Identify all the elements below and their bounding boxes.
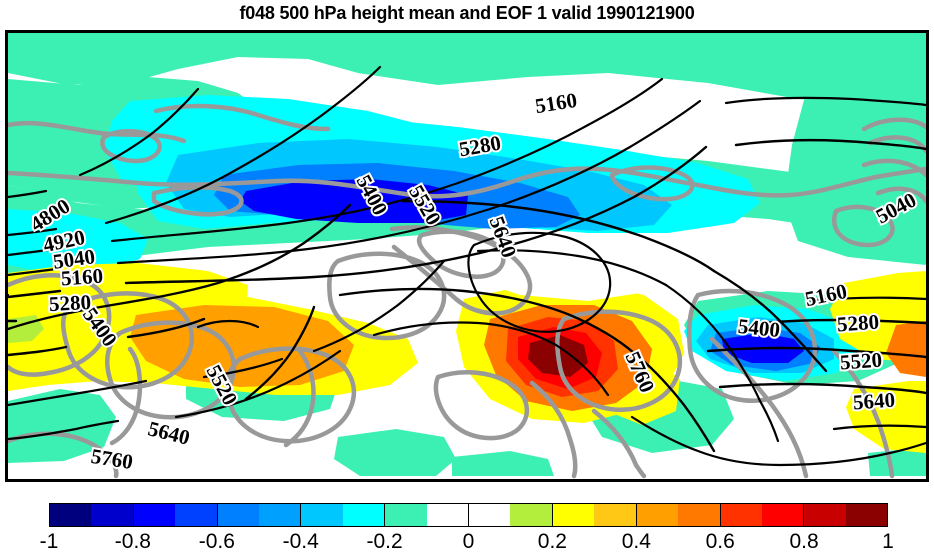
colorbar-tick-0: 0: [463, 528, 475, 556]
colorbar-strip: [49, 503, 888, 527]
contour-label-5640-right: 5640: [852, 388, 896, 415]
colorbar-bin-16: [721, 504, 762, 526]
colorbar-bin-9: [427, 504, 469, 526]
contour-label-5400-right: 5400: [737, 314, 781, 342]
colorbar-bin-4: [218, 504, 259, 526]
colorbar-tick-0.4: 0.4: [622, 528, 651, 556]
colorbar-bin-1: [91, 504, 133, 526]
colorbar-bin-8: [385, 504, 426, 526]
colorbar-tick-1: 1: [882, 528, 894, 556]
colorbar-bin-10: [469, 504, 510, 526]
map-plot-area: 4800 4920 5040 5160 5280 5400 5520 5640 …: [8, 33, 926, 479]
colorbar-bin-14: [637, 504, 678, 526]
map-panel: 4800 4920 5040 5160 5280 5400 5520 5640 …: [5, 30, 929, 482]
colorbar-bin-15: [678, 504, 720, 526]
colorbar-bin-6: [301, 504, 342, 526]
colorbar: -1-0.8-0.6-0.4-0.200.20.40.60.81: [49, 503, 888, 527]
contour-label-5280-right: 5280: [836, 310, 880, 337]
colorbar-bin-7: [343, 504, 385, 526]
contour-label-5520-right: 5520: [839, 348, 883, 375]
colorbar-bin-13: [594, 504, 636, 526]
colorbar-bin-2: [134, 504, 175, 526]
colorbar-tick-labels: -1-0.8-0.6-0.4-0.200.20.40.60.81: [49, 528, 888, 558]
colorbar-tick--0.8: -0.8: [115, 528, 151, 556]
shade-band-teal-bottom-1: [334, 429, 456, 476]
figure-root: f048 500 hPa height mean and EOF 1 valid…: [0, 0, 934, 558]
colorbar-bin-17: [762, 504, 804, 526]
colorbar-bin-0: [50, 504, 91, 526]
colorbar-bin-18: [804, 504, 845, 526]
colorbar-bin-3: [175, 504, 217, 526]
colorbar-tick-0.2: 0.2: [538, 528, 567, 556]
colorbar-bin-11: [510, 504, 552, 526]
colorbar-bin-5: [259, 504, 301, 526]
colorbar-tick--1: -1: [40, 528, 59, 556]
colorbar-tick--0.4: -0.4: [283, 528, 319, 556]
colorbar-tick--0.2: -0.2: [367, 528, 403, 556]
colorbar-tick-0.8: 0.8: [789, 528, 818, 556]
colorbar-tick--0.6: -0.6: [199, 528, 235, 556]
map-svg: 4800 4920 5040 5160 5280 5400 5520 5640 …: [8, 33, 926, 479]
figure-title: f048 500 hPa height mean and EOF 1 valid…: [0, 1, 934, 25]
colorbar-bin-12: [553, 504, 594, 526]
colorbar-tick-0.6: 0.6: [706, 528, 735, 556]
contour-label-5160-left: 5160: [60, 264, 104, 291]
colorbar-bin-19: [846, 504, 887, 526]
